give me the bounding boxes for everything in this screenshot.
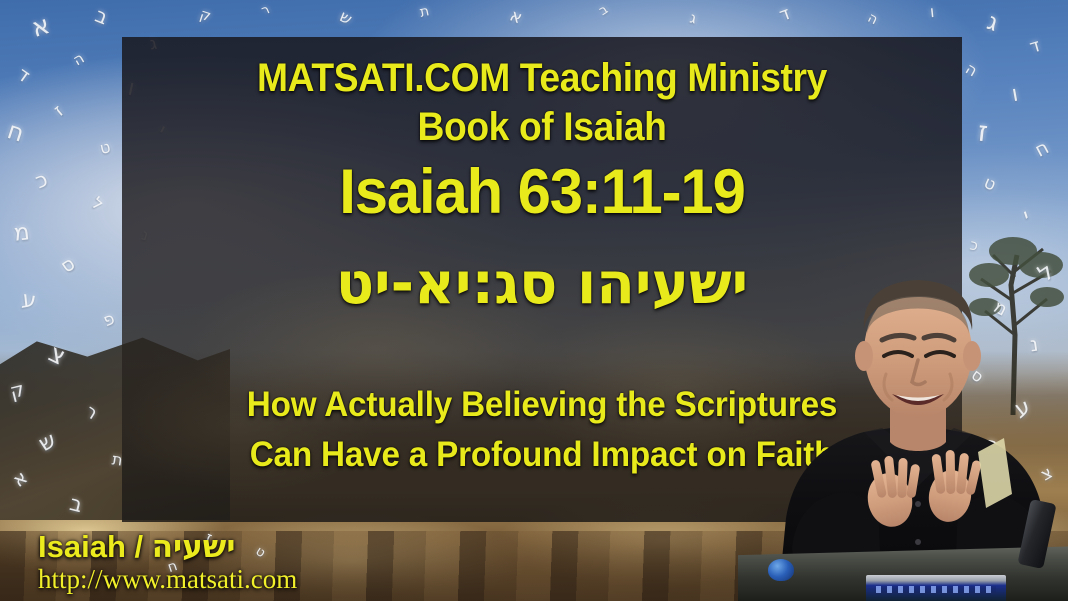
brand-separator: /: [126, 529, 152, 564]
brand-name-hebrew: ישעיה: [152, 529, 236, 565]
brand-name-english: Isaiah: [38, 529, 126, 564]
brand-title: Isaiah / ישעיה: [38, 531, 297, 563]
video-frame: אבגדהוזחטיכלמנסעפצקרשתאבגדהוזחטיכלמנסעפצ…: [0, 0, 1068, 601]
ministry-title: MATSATI.COM Teaching Ministry: [151, 56, 932, 101]
scripture-reference: Isaiah 63:11-19: [143, 156, 941, 228]
desk-monitor: [866, 575, 1006, 601]
book-title: Book of Isaiah: [151, 105, 932, 150]
brand-url[interactable]: http://www.matsati.com: [38, 565, 297, 593]
desk-knob: [768, 559, 794, 581]
brand-watermark: Isaiah / ישעיה http://www.matsati.com: [38, 531, 297, 593]
